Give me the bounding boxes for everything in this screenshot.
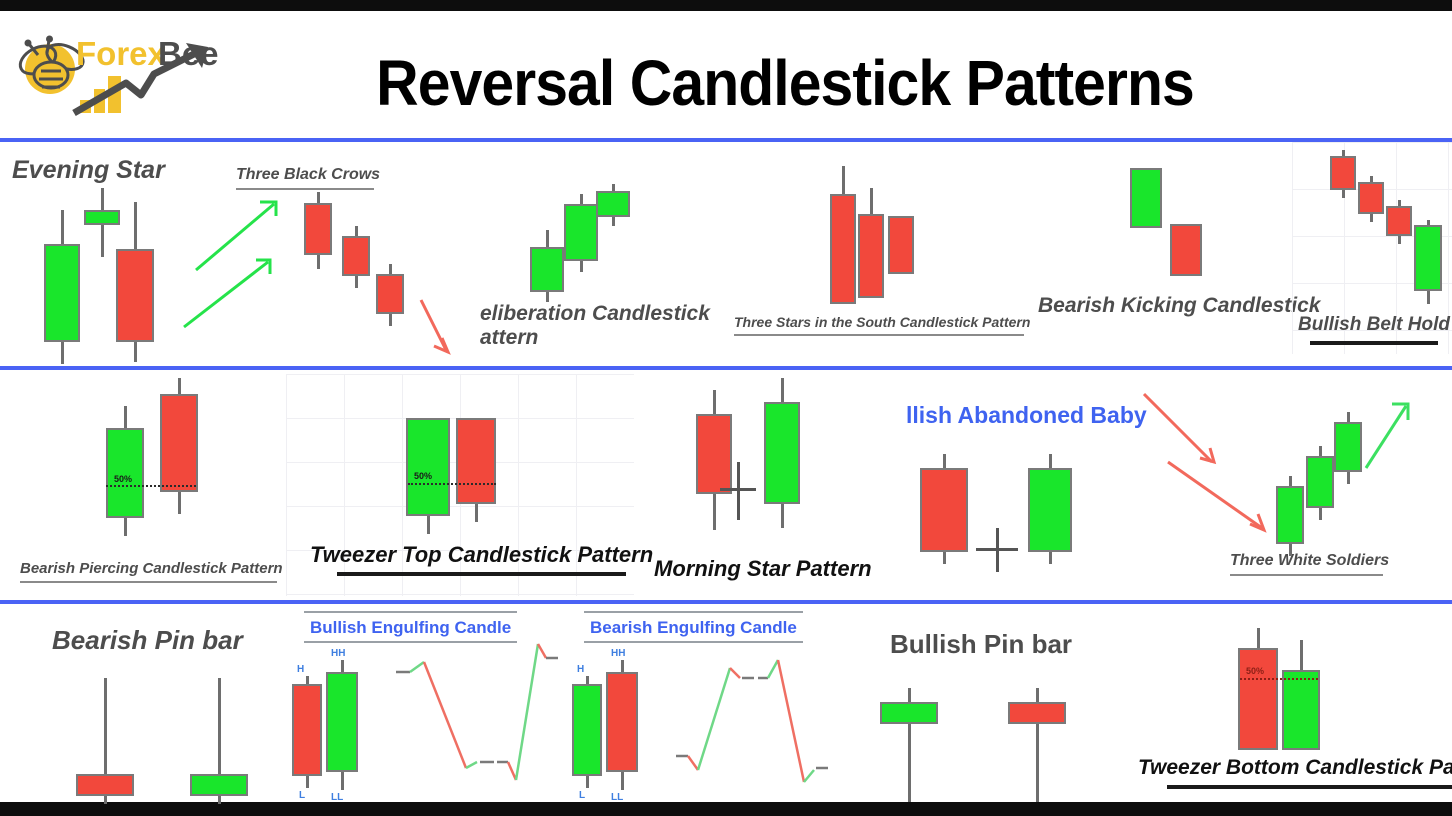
row-1: Evening Star Three Black Crows: [0, 142, 1452, 366]
candle-bullish: [1028, 454, 1072, 564]
bottom-black-bar: [0, 802, 1452, 816]
candle-bullish-pin: [880, 688, 938, 802]
row-2: Bearish Piercing Candlestick Pattern 50%…: [0, 370, 1452, 600]
candle-bearish: [858, 188, 884, 298]
pattern-three-stars-south: Three Stars in the South Candlestick Pat…: [726, 142, 1026, 366]
pattern-tweezer-top: Tweezer Top Candlestick Pattern 50%: [286, 370, 636, 600]
pattern-label: Morning Star Pattern: [654, 556, 872, 581]
pattern-label: Bearish Piercing Candlestick Pattern: [20, 560, 283, 577]
candle-bearish-pin: [1008, 688, 1066, 802]
candle-bearish-pin: [76, 678, 134, 800]
candle-bullish: [1334, 412, 1362, 484]
pattern-three-white-soldiers: Three White Soldiers: [1130, 370, 1452, 600]
candle-doji: [976, 528, 1018, 572]
pattern-bullish-engulfing: Bullish Engulfing Candle H HH L LL: [284, 604, 544, 802]
price-line-chart: [564, 604, 824, 802]
top-black-bar: [0, 0, 1452, 11]
candle-bearish: [1386, 200, 1412, 244]
pattern-bearish-pin-bar: Bearish Pin bar: [14, 604, 280, 802]
fifty-percent-label: 50%: [1246, 666, 1264, 676]
candle-bullish-pin: [190, 678, 248, 800]
candle-bearish: [1330, 150, 1356, 198]
candle-bullish: [764, 378, 800, 528]
header: Forex Bee Reversal Candlestick Patterns: [0, 11, 1452, 138]
candle-doji-star: [84, 188, 120, 266]
bee-logo-icon: Forex Bee: [8, 27, 233, 123]
fifty-percent-label: 50%: [114, 474, 132, 484]
candle-bullish: [564, 194, 598, 272]
pattern-bullish-belt-hold: Bullish Belt Hold: [1292, 142, 1452, 366]
pattern-bullish-pin-bar: Bullish Pin bar: [856, 604, 1126, 802]
candle-bearish: [160, 378, 198, 514]
pattern-evening-star: Evening Star: [12, 142, 192, 366]
pattern-tweezer-bottom: Tweezer Bottom Candlestick Pattern 50%: [1130, 604, 1452, 802]
candle-bullish: [596, 184, 630, 226]
candle-bullish: [1276, 476, 1304, 556]
candle-bearish: [376, 264, 404, 326]
fifty-percent-line: [106, 485, 196, 487]
candle-bullish: [1282, 640, 1320, 750]
pattern-deliberation: eliberation Candlestick attern: [472, 142, 722, 366]
candle-bearish: [342, 226, 370, 288]
svg-text:Forex: Forex: [76, 35, 167, 72]
price-line-chart: [284, 604, 544, 802]
row-3: Bearish Pin bar Bullish Engulfing Candle…: [0, 604, 1452, 802]
candle-bearish: [304, 192, 332, 270]
pattern-label: eliberation Candlestick attern: [480, 302, 715, 350]
pattern-label: Bearish Pin bar: [52, 626, 243, 656]
candle-bearish: [830, 166, 856, 304]
pattern-three-black-crows: Three Black Crows: [178, 142, 468, 366]
infographic-page: Forex Bee Reversal Candlestick Patterns …: [0, 0, 1452, 816]
candle-bearish: [1238, 628, 1278, 750]
pattern-label: Bullish Belt Hold: [1298, 314, 1450, 336]
candle-bearish: [116, 202, 154, 362]
candle-bearish: [456, 418, 496, 522]
pattern-bullish-abandoned-baby: llish Abandoned Baby: [900, 370, 1150, 600]
pattern-bearish-engulfing: Bearish Engulfing Candle H HH L LL: [564, 604, 824, 802]
fifty-percent-label: 50%: [414, 471, 432, 481]
pattern-label: Bearish Kicking Candlestick: [1038, 294, 1320, 318]
pattern-bearish-kicking: Bearish Kicking Candlestick: [1030, 142, 1290, 366]
pattern-label: Bullish Pin bar: [890, 630, 1072, 660]
pattern-bearish-piercing: Bearish Piercing Candlestick Pattern 50%: [14, 370, 284, 600]
pattern-label: Tweezer Top Candlestick Pattern: [310, 542, 653, 567]
pattern-morning-star: Morning Star Pattern: [640, 370, 900, 600]
page-title: Reversal Candlestick Patterns: [297, 47, 1272, 119]
pattern-label: Tweezer Bottom Candlestick Pattern: [1138, 756, 1452, 780]
candle-doji: [720, 462, 756, 520]
fifty-percent-line: [408, 483, 496, 485]
candle-bearish: [1170, 224, 1202, 276]
candle-bearish: [920, 454, 968, 564]
candle-bearish: [1358, 176, 1384, 222]
fifty-percent-line: [1240, 678, 1318, 680]
candle-bullish: [1306, 446, 1334, 520]
pattern-label: Three Stars in the South Candlestick Pat…: [734, 314, 1030, 330]
candle-bullish: [106, 406, 144, 536]
candle-bullish: [530, 230, 564, 302]
pattern-label: llish Abandoned Baby: [906, 402, 1147, 428]
pattern-label: Evening Star: [12, 156, 165, 185]
candle-bullish: [1130, 168, 1162, 228]
candle-bullish: [44, 210, 80, 360]
candle-bullish: [1414, 220, 1442, 304]
candle-bearish: [888, 216, 914, 274]
